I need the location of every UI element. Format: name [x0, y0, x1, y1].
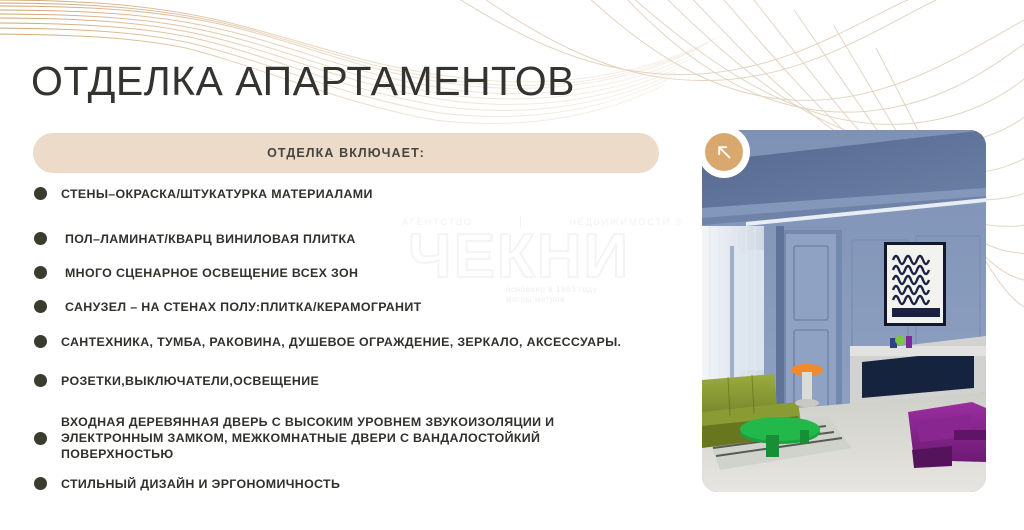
list-item-label: СТИЛЬНЫЙ ДИЗАЙН И ЭРГОНОМИЧНОСТЬ — [61, 476, 340, 492]
slide-root: ОТДЕЛКА АПАРТАМЕНТОВ ОТДЕЛКА ВКЛЮЧАЕТ: С… — [0, 0, 1024, 530]
watermark-tagline: АГЕНТСТВО НЕДВИЖИМОСТИ ® — [402, 216, 684, 228]
list-item-label: ПОЛ–ЛАМИНАТ/КВАРЦ ВИНИЛОВАЯ ПЛИТКА — [65, 231, 356, 247]
bullet-dot-icon — [34, 374, 47, 387]
watermark-subtext: основано в 1993 году могры метров — [506, 285, 597, 305]
watermark-left-label: АГЕНТСТВО — [402, 217, 473, 228]
bullet-dot-icon — [34, 300, 47, 313]
list-item: СТИЛЬНЫЙ ДИЗАЙН И ЭРГОНОМИЧНОСТЬ — [34, 476, 340, 492]
list-item: РОЗЕТКИ,ВЫКЛЮЧАТЕЛИ,ОСВЕЩЕНИЕ — [34, 373, 319, 389]
list-item: САНУЗЕЛ – НА СТЕНАХ ПОЛУ:ПЛИТКА/КЕРАМОГР… — [34, 299, 422, 315]
list-item: ВХОДНАЯ ДЕРЕВЯННАЯ ДВЕРЬ С ВЫСОКИМ УРОВН… — [34, 414, 554, 462]
list-item: САНТЕХНИКА, ТУМБА, РАКОВИНА, ДУШЕВОЕ ОГР… — [34, 334, 621, 350]
page-title: ОТДЕЛКА АПАРТАМЕНТОВ — [31, 57, 575, 105]
bullet-dot-icon — [34, 232, 47, 245]
list-item-label: САНУЗЕЛ – НА СТЕНАХ ПОЛУ:ПЛИТКА/КЕРАМОГР… — [65, 299, 422, 315]
section-banner-label: ОТДЕЛКА ВКЛЮЧАЕТ: — [267, 146, 425, 160]
interior-photo-card — [702, 130, 986, 492]
list-item: СТЕНЫ–ОКРАСКА/ШТУКАТУРКА МАТЕРИАЛАМИ — [34, 186, 373, 202]
list-item-label: МНОГО СЦЕНАРНОЕ ОСВЕЩЕНИЕ ВСЕХ ЗОН — [65, 265, 358, 281]
section-banner: ОТДЕЛКА ВКЛЮЧАЕТ: — [33, 133, 659, 173]
arrow-up-left-icon — [714, 142, 734, 162]
watermark: АГЕНТСТВО НЕДВИЖИМОСТИ ® ЧЕКНИ основано … — [398, 210, 688, 310]
bullet-dot-icon — [34, 335, 47, 348]
list-item: ПОЛ–ЛАМИНАТ/КВАРЦ ВИНИЛОВАЯ ПЛИТКА — [34, 231, 356, 247]
list-item-label: РОЗЕТКИ,ВЫКЛЮЧАТЕЛИ,ОСВЕЩЕНИЕ — [61, 373, 319, 389]
list-item: МНОГО СЦЕНАРНОЕ ОСВЕЩЕНИЕ ВСЕХ ЗОН — [34, 265, 358, 281]
watermark-logo: ЧЕКНИ — [408, 226, 630, 288]
bullet-dot-icon — [34, 266, 47, 279]
list-item-label: СТЕНЫ–ОКРАСКА/ШТУКАТУРКА МАТЕРИАЛАМИ — [61, 186, 373, 202]
expand-photo-button[interactable] — [705, 133, 743, 171]
bullet-dot-icon — [34, 187, 47, 200]
list-item-label: ВХОДНАЯ ДЕРЕВЯННАЯ ДВЕРЬ С ВЫСОКИМ УРОВН… — [61, 414, 554, 462]
watermark-divider — [520, 216, 521, 228]
watermark-right-label: НЕДВИЖИМОСТИ ® — [569, 217, 684, 228]
list-item-label: САНТЕХНИКА, ТУМБА, РАКОВИНА, ДУШЕВОЕ ОГР… — [61, 334, 621, 350]
interior-photo — [702, 130, 986, 492]
bullet-dot-icon — [34, 477, 47, 490]
bullet-dot-icon — [34, 432, 47, 445]
